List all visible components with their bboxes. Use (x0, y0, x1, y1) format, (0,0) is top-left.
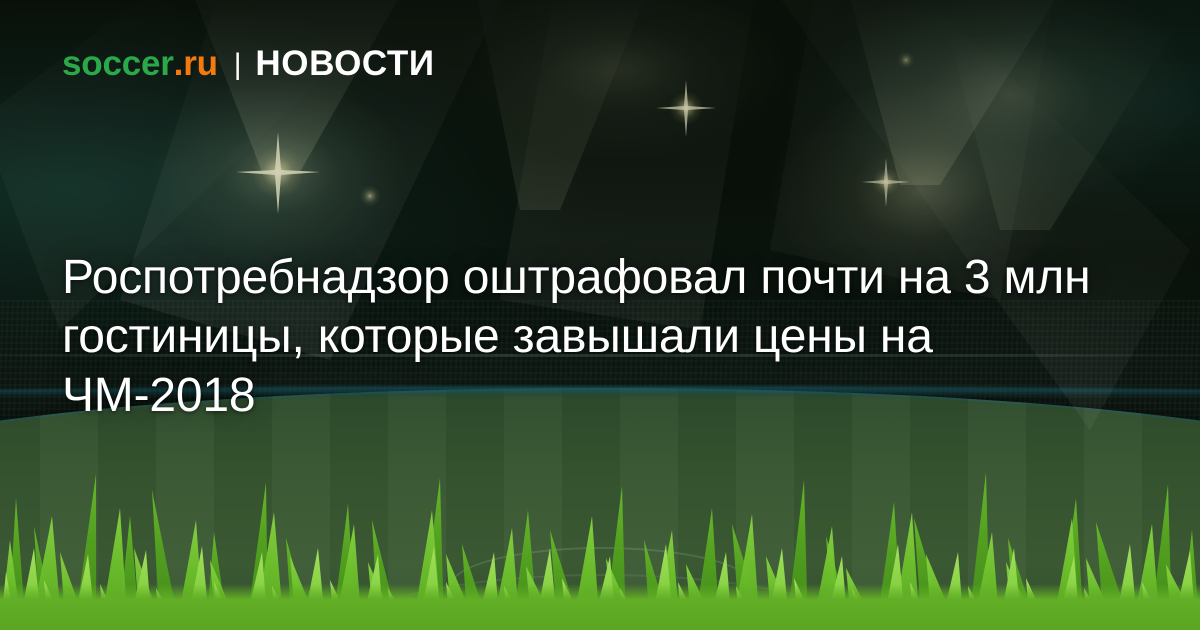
site-logo[interactable]: soccer.ru | НОВОСТИ (62, 46, 435, 81)
news-card: soccer.ru | НОВОСТИ Роспотребнадзор оштр… (0, 0, 1200, 630)
headline-title: Роспотребнадзор оштрафовал почти на 3 мл… (62, 248, 1132, 425)
section-label-news: НОВОСТИ (255, 46, 434, 81)
logo-separator: | (234, 50, 242, 80)
logo-text-ru: .ru (174, 46, 218, 81)
logo-text-soccer: soccer (62, 46, 174, 81)
